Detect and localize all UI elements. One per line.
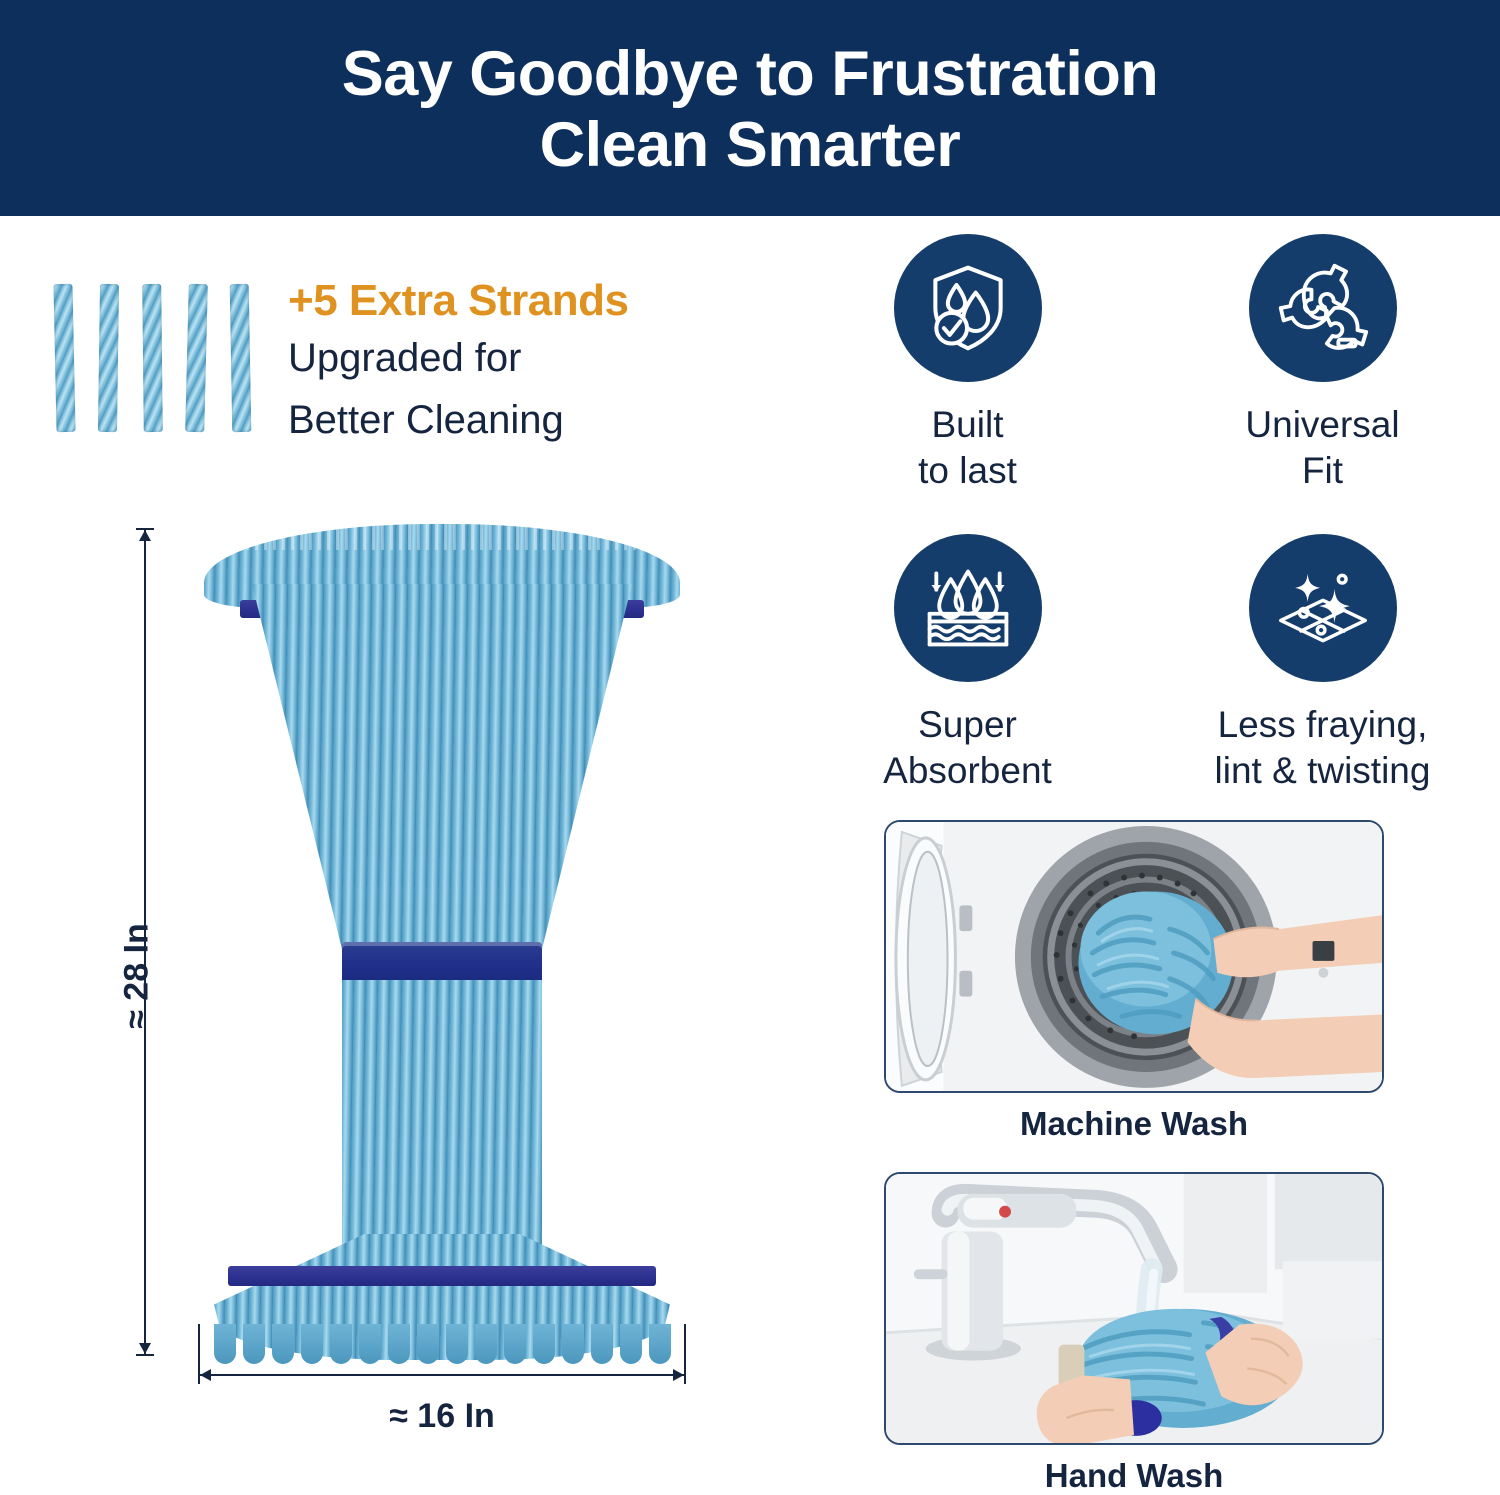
mop-head-illustration bbox=[204, 524, 680, 1362]
puzzle-pieces-icon bbox=[1249, 234, 1397, 382]
feature-label: Super Absorbent bbox=[883, 702, 1052, 795]
rope-strand-group bbox=[55, 278, 250, 438]
hand-wash-caption: Hand Wash bbox=[884, 1457, 1384, 1495]
extra-strands-headline: +5 Extra Strands bbox=[288, 278, 629, 324]
rope-strand-icon bbox=[185, 284, 208, 432]
mop-lower-band bbox=[228, 1266, 656, 1286]
extra-strands-subline-2: Better Cleaning bbox=[288, 394, 629, 448]
mop-upper-body bbox=[252, 584, 632, 954]
rope-strand-icon bbox=[230, 284, 252, 432]
absorbent-droplets-icon bbox=[894, 534, 1042, 682]
width-line bbox=[198, 1374, 686, 1376]
header-title-line-2: Clean Smarter bbox=[540, 110, 961, 181]
care-photo-hand-wash: Hand Wash bbox=[884, 1172, 1384, 1495]
extra-strands-text: +5 Extra Strands Upgraded for Better Cle… bbox=[288, 278, 629, 447]
header-title-line-1: Say Goodbye to Frustration bbox=[342, 39, 1159, 110]
feature-label: Built to last bbox=[918, 402, 1017, 495]
height-arrow-up-icon bbox=[139, 530, 151, 541]
extra-strands-subline-1: Upgraded for bbox=[288, 332, 629, 386]
product-dimension-diagram: ≈ 28 In ≈ 16 In bbox=[120, 506, 700, 1446]
hand-wash-photo bbox=[884, 1172, 1384, 1445]
width-arrow-right-icon bbox=[673, 1369, 684, 1381]
right-column: Built to last Universal Fit bbox=[790, 216, 1500, 1486]
height-dimension-label: ≈ 28 In bbox=[117, 923, 156, 1029]
machine-wash-caption: Machine Wash bbox=[884, 1105, 1384, 1143]
width-arrow-left-icon bbox=[200, 1369, 211, 1381]
sparkle-surface-icon bbox=[1249, 534, 1397, 682]
extra-strands-block: +5 Extra Strands Upgraded for Better Cle… bbox=[55, 278, 755, 447]
feature-universal-fit: Universal Fit bbox=[1145, 234, 1500, 534]
washing-machine-scene bbox=[886, 822, 1382, 1093]
shield-water-check-icon bbox=[894, 234, 1042, 382]
feature-super-absorbent: Super Absorbent bbox=[790, 534, 1145, 834]
feature-label: Less fraying, lint & twisting bbox=[1215, 702, 1431, 795]
feature-built-to-last: Built to last bbox=[790, 234, 1145, 534]
height-arrow-down-icon bbox=[139, 1343, 151, 1354]
rope-strand-icon bbox=[98, 284, 119, 432]
feature-label: Universal Fit bbox=[1245, 402, 1399, 495]
header-banner: Say Goodbye to Frustration Clean Smarter bbox=[0, 0, 1500, 216]
rope-strand-icon bbox=[142, 284, 163, 432]
hand-wash-scene bbox=[886, 1174, 1382, 1445]
width-dimension-line: ≈ 16 In bbox=[198, 1350, 686, 1384]
feature-less-fraying: Less fraying, lint & twisting bbox=[1145, 534, 1500, 834]
feature-grid: Built to last Universal Fit bbox=[790, 234, 1500, 834]
left-column: +5 Extra Strands Upgraded for Better Cle… bbox=[0, 216, 790, 1486]
width-dimension-label: ≈ 16 In bbox=[389, 1397, 495, 1436]
machine-wash-photo bbox=[884, 820, 1384, 1093]
care-photo-machine-wash: Machine Wash bbox=[884, 820, 1384, 1143]
rope-strand-icon bbox=[53, 284, 75, 432]
